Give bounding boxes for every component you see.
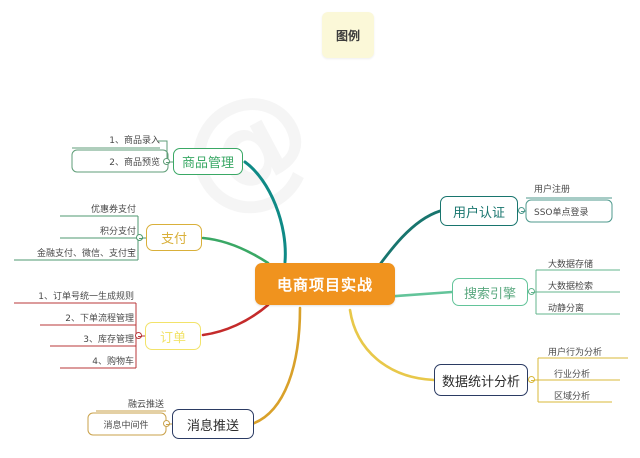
leaf-label: 金融支付、微信、支付宝 [37, 246, 136, 259]
leaf-product-management-0[interactable]: 1、商品录入 [70, 132, 160, 146]
leaf-data-statistics-1[interactable]: 行业分析 [554, 366, 634, 380]
branch-node-payment[interactable]: 支付 [146, 224, 202, 251]
leaf-data-statistics-2[interactable]: 区域分析 [554, 388, 634, 402]
branch-node-data-statistics[interactable]: 数据统计分析 [434, 364, 528, 396]
leaf-label: 4、购物车 [92, 354, 134, 367]
center-node-label: 电商项目实战 [277, 274, 373, 295]
leaf-label: 3、库存管理 [83, 332, 134, 345]
leaf-label: SSO单点登录 [534, 205, 589, 218]
leaf-message-push-0[interactable]: 融云推送 [88, 396, 164, 410]
branch-label: 数据统计分析 [442, 371, 520, 390]
legend-box[interactable]: 图例 [322, 12, 374, 58]
collapse-toggle-message-push[interactable] [163, 420, 170, 427]
mindmap-canvas: @ [0, 0, 640, 458]
leaf-user-auth-0[interactable]: 用户注册 [534, 181, 614, 195]
branch-label: 支付 [161, 228, 187, 247]
leaf-order-3[interactable]: 4、购物车 [54, 353, 134, 367]
leaf-search-engine-0[interactable]: 大数据存储 [548, 256, 626, 270]
leaf-label: 行业分析 [554, 367, 590, 380]
collapse-toggle-order[interactable] [135, 332, 142, 339]
leaf-label: 动静分离 [548, 301, 584, 314]
leaf-label: 融云推送 [128, 397, 164, 410]
branch-label: 商品管理 [182, 152, 234, 171]
branch-label: 用户认证 [453, 202, 505, 221]
legend-label: 图例 [336, 27, 360, 44]
branch-label: 订单 [160, 327, 186, 346]
leaf-label: 用户行为分析 [548, 345, 602, 358]
branch-node-message-push[interactable]: 消息推送 [172, 409, 254, 439]
leaf-payment-1[interactable]: 积分支付 [44, 223, 136, 237]
leaf-label: 1、商品录入 [109, 133, 160, 146]
leaf-label: 2、商品预览 [109, 155, 160, 168]
branch-label: 消息推送 [187, 415, 239, 434]
leaf-label: 消息中间件 [103, 418, 148, 431]
leaf-order-2[interactable]: 3、库存管理 [44, 331, 134, 345]
branch-node-order[interactable]: 订单 [145, 322, 201, 350]
leaf-label: 大数据检索 [548, 279, 593, 292]
leaf-label: 2、下单流程管理 [65, 311, 134, 324]
collapse-toggle-user-auth[interactable] [518, 207, 525, 214]
leaf-label: 1、订单号统一生成规则 [38, 289, 134, 302]
branch-node-user-auth[interactable]: 用户认证 [440, 196, 518, 226]
leaf-label: 用户注册 [534, 182, 570, 195]
leaf-message-push-1[interactable]: 消息中间件 [88, 417, 164, 431]
center-node[interactable]: 电商项目实战 [255, 263, 395, 305]
collapse-toggle-product-management[interactable] [163, 158, 170, 165]
leaf-label: 优惠券支付 [91, 202, 136, 215]
branch-label: 搜索引擎 [464, 283, 516, 302]
leaf-product-management-1[interactable]: 2、商品预览 [70, 154, 160, 168]
leaf-label: 积分支付 [100, 224, 136, 237]
collapse-toggle-search-engine[interactable] [528, 288, 535, 295]
branch-node-search-engine[interactable]: 搜索引擎 [452, 278, 528, 306]
collapse-toggle-data-statistics[interactable] [528, 376, 535, 383]
leaf-data-statistics-0[interactable]: 用户行为分析 [548, 344, 634, 358]
collapse-toggle-payment[interactable] [136, 234, 143, 241]
branch-node-product-management[interactable]: 商品管理 [173, 148, 243, 175]
leaf-label: 区域分析 [554, 389, 590, 402]
leaf-label: 大数据存储 [548, 257, 593, 270]
leaf-user-auth-1[interactable]: SSO单点登录 [534, 204, 618, 218]
leaf-payment-2[interactable]: 金融支付、微信、支付宝 [14, 245, 136, 259]
leaf-search-engine-2[interactable]: 动静分离 [548, 300, 626, 314]
leaf-payment-0[interactable]: 优惠券支付 [44, 201, 136, 215]
leaf-order-0[interactable]: 1、订单号统一生成规则 [14, 288, 134, 302]
leaf-order-1[interactable]: 2、下单流程管理 [34, 310, 134, 324]
leaf-search-engine-1[interactable]: 大数据检索 [548, 278, 626, 292]
